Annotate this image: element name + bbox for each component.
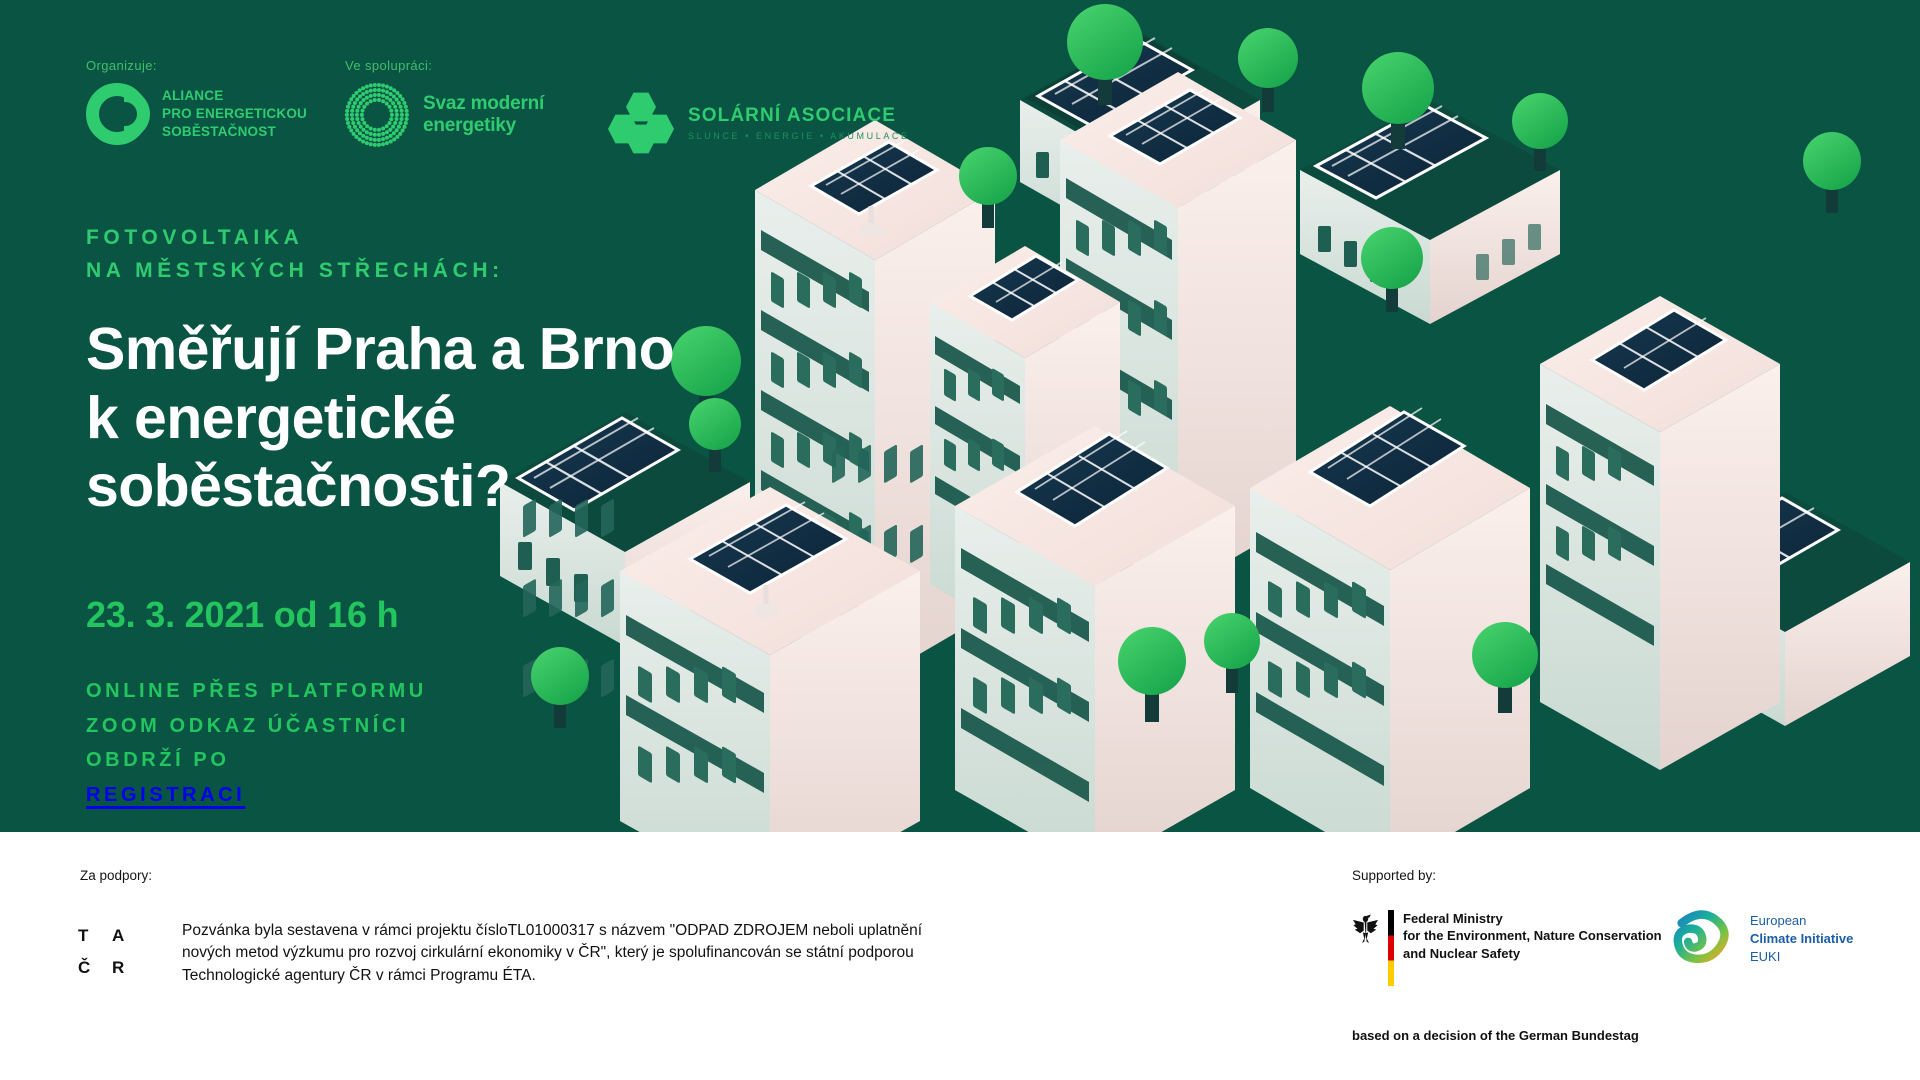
platform-line-1: ONLINE PŘES PLATFORMU (86, 674, 846, 708)
euki-line-1: European (1750, 912, 1853, 930)
euki-logo: European Climate Initiative EUKI (1672, 910, 1853, 968)
alliance-line-2: PRO ENERGETICKOU (162, 105, 307, 123)
kicker-line-1: FOTOVOLTAIKA (86, 222, 846, 255)
alliance-logo-text: ALIANCE PRO ENERGETICKOU SOBĚSTAČNOST (162, 87, 307, 142)
solar-logo-icon (608, 92, 674, 154)
registration-link[interactable]: REGISTRACI (86, 784, 245, 806)
svaz-line-1: Svaz moderní (423, 93, 544, 115)
svaz-logo-text: Svaz moderní energetiky (423, 93, 544, 138)
ministry-text: Federal Ministry for the Environment, Na… (1403, 910, 1662, 962)
euki-text: European Climate Initiative EUKI (1750, 912, 1853, 966)
svaz-line-2: energetiky (423, 115, 544, 137)
funding-disclaimer: Pozvánka byla sestavena v rámci projektu… (182, 920, 972, 987)
german-ministry-logo: Federal Ministry for the Environment, Na… (1352, 910, 1662, 986)
alliance-logo-icon (86, 83, 148, 145)
euki-line-2: Climate Initiative (1750, 930, 1853, 948)
kicker-line-2: NA MĚSTSKÝCH STŘECHÁCH: (86, 255, 846, 288)
tacr-letter-c: Č (78, 952, 112, 984)
footer-section: Za podpory: T A Č R Pozvánka byla sestav… (0, 832, 1920, 1080)
hero-copy: FOTOVOLTAIKA NA MĚSTSKÝCH STŘECHÁCH: Smě… (86, 222, 846, 812)
tacr-letter-r: R (112, 952, 146, 984)
ministry-line-3: and Nuclear Safety (1403, 945, 1662, 962)
platform-line-3-prefix: OBDRŽÍ PO (86, 743, 846, 777)
solar-name: SOLÁRNÍ ASOCIACE (688, 105, 910, 127)
logo-solarni-asociace: SOLÁRNÍ ASOCIACE SLUNCE • ENERGIE • AKUM… (608, 92, 910, 154)
poster-root: Organizuje: ALIANCE PRO ENERGETICKOU SOB… (0, 0, 1920, 1080)
organizer-label: Organizuje: (86, 58, 307, 73)
euki-line-3: EUKI (1750, 948, 1853, 966)
headline-line-2: k energetické (86, 384, 846, 452)
tacr-logo: T A Č R (78, 920, 146, 984)
euki-swirl-icon (1672, 910, 1738, 968)
solar-logo-text: SOLÁRNÍ ASOCIACE SLUNCE • ENERGIE • AKUM… (688, 105, 910, 141)
german-flag-bar (1388, 910, 1394, 986)
solar-tagline: SLUNCE • ENERGIE • AKUMULACE (688, 131, 910, 141)
platform-line-3: OBDRŽÍ PO REGISTRACI (86, 743, 846, 812)
headline-line-3: soběstačnosti? (86, 452, 846, 520)
logo-alliance: Organizuje: ALIANCE PRO ENERGETICKOU SOB… (86, 58, 307, 145)
event-platform-info: ONLINE PŘES PLATFORMU ZOOM ODKAZ ÚČASTNÍ… (86, 674, 846, 812)
hero-section: Organizuje: ALIANCE PRO ENERGETICKOU SOB… (0, 0, 1920, 832)
supported-by-label: Supported by: (1352, 868, 1436, 883)
platform-line-2: ZOOM ODKAZ ÚČASTNÍCI (86, 709, 846, 743)
partner-logos-row: Organizuje: ALIANCE PRO ENERGETICKOU SOB… (0, 0, 1100, 170)
tacr-letter-t: T (78, 920, 112, 952)
event-date: 23. 3. 2021 od 16 h (86, 594, 846, 636)
logo-svaz-moderni-energetiky: Ve spolupráci: Svaz moderní energetiky (345, 58, 544, 147)
page-title: Směřují Praha a Brno k energetické soběs… (86, 315, 846, 520)
federal-eagle-icon (1352, 910, 1379, 944)
tacr-letter-a: A (112, 920, 146, 952)
ministry-line-1: Federal Ministry (1403, 910, 1662, 927)
bundestag-note: based on a decision of the German Bundes… (1352, 1028, 1639, 1043)
svaz-logo-icon (345, 83, 409, 147)
ministry-line-2: for the Environment, Nature Conservation (1403, 927, 1662, 944)
alliance-line-3: SOBĚSTAČNOST (162, 123, 307, 141)
collaboration-label: Ve spolupráci: (345, 58, 544, 73)
support-label: Za podpory: (80, 868, 152, 883)
alliance-line-1: ALIANCE (162, 87, 307, 105)
hero-kicker: FOTOVOLTAIKA NA MĚSTSKÝCH STŘECHÁCH: (86, 222, 846, 287)
headline-line-1: Směřují Praha a Brno (86, 315, 846, 383)
